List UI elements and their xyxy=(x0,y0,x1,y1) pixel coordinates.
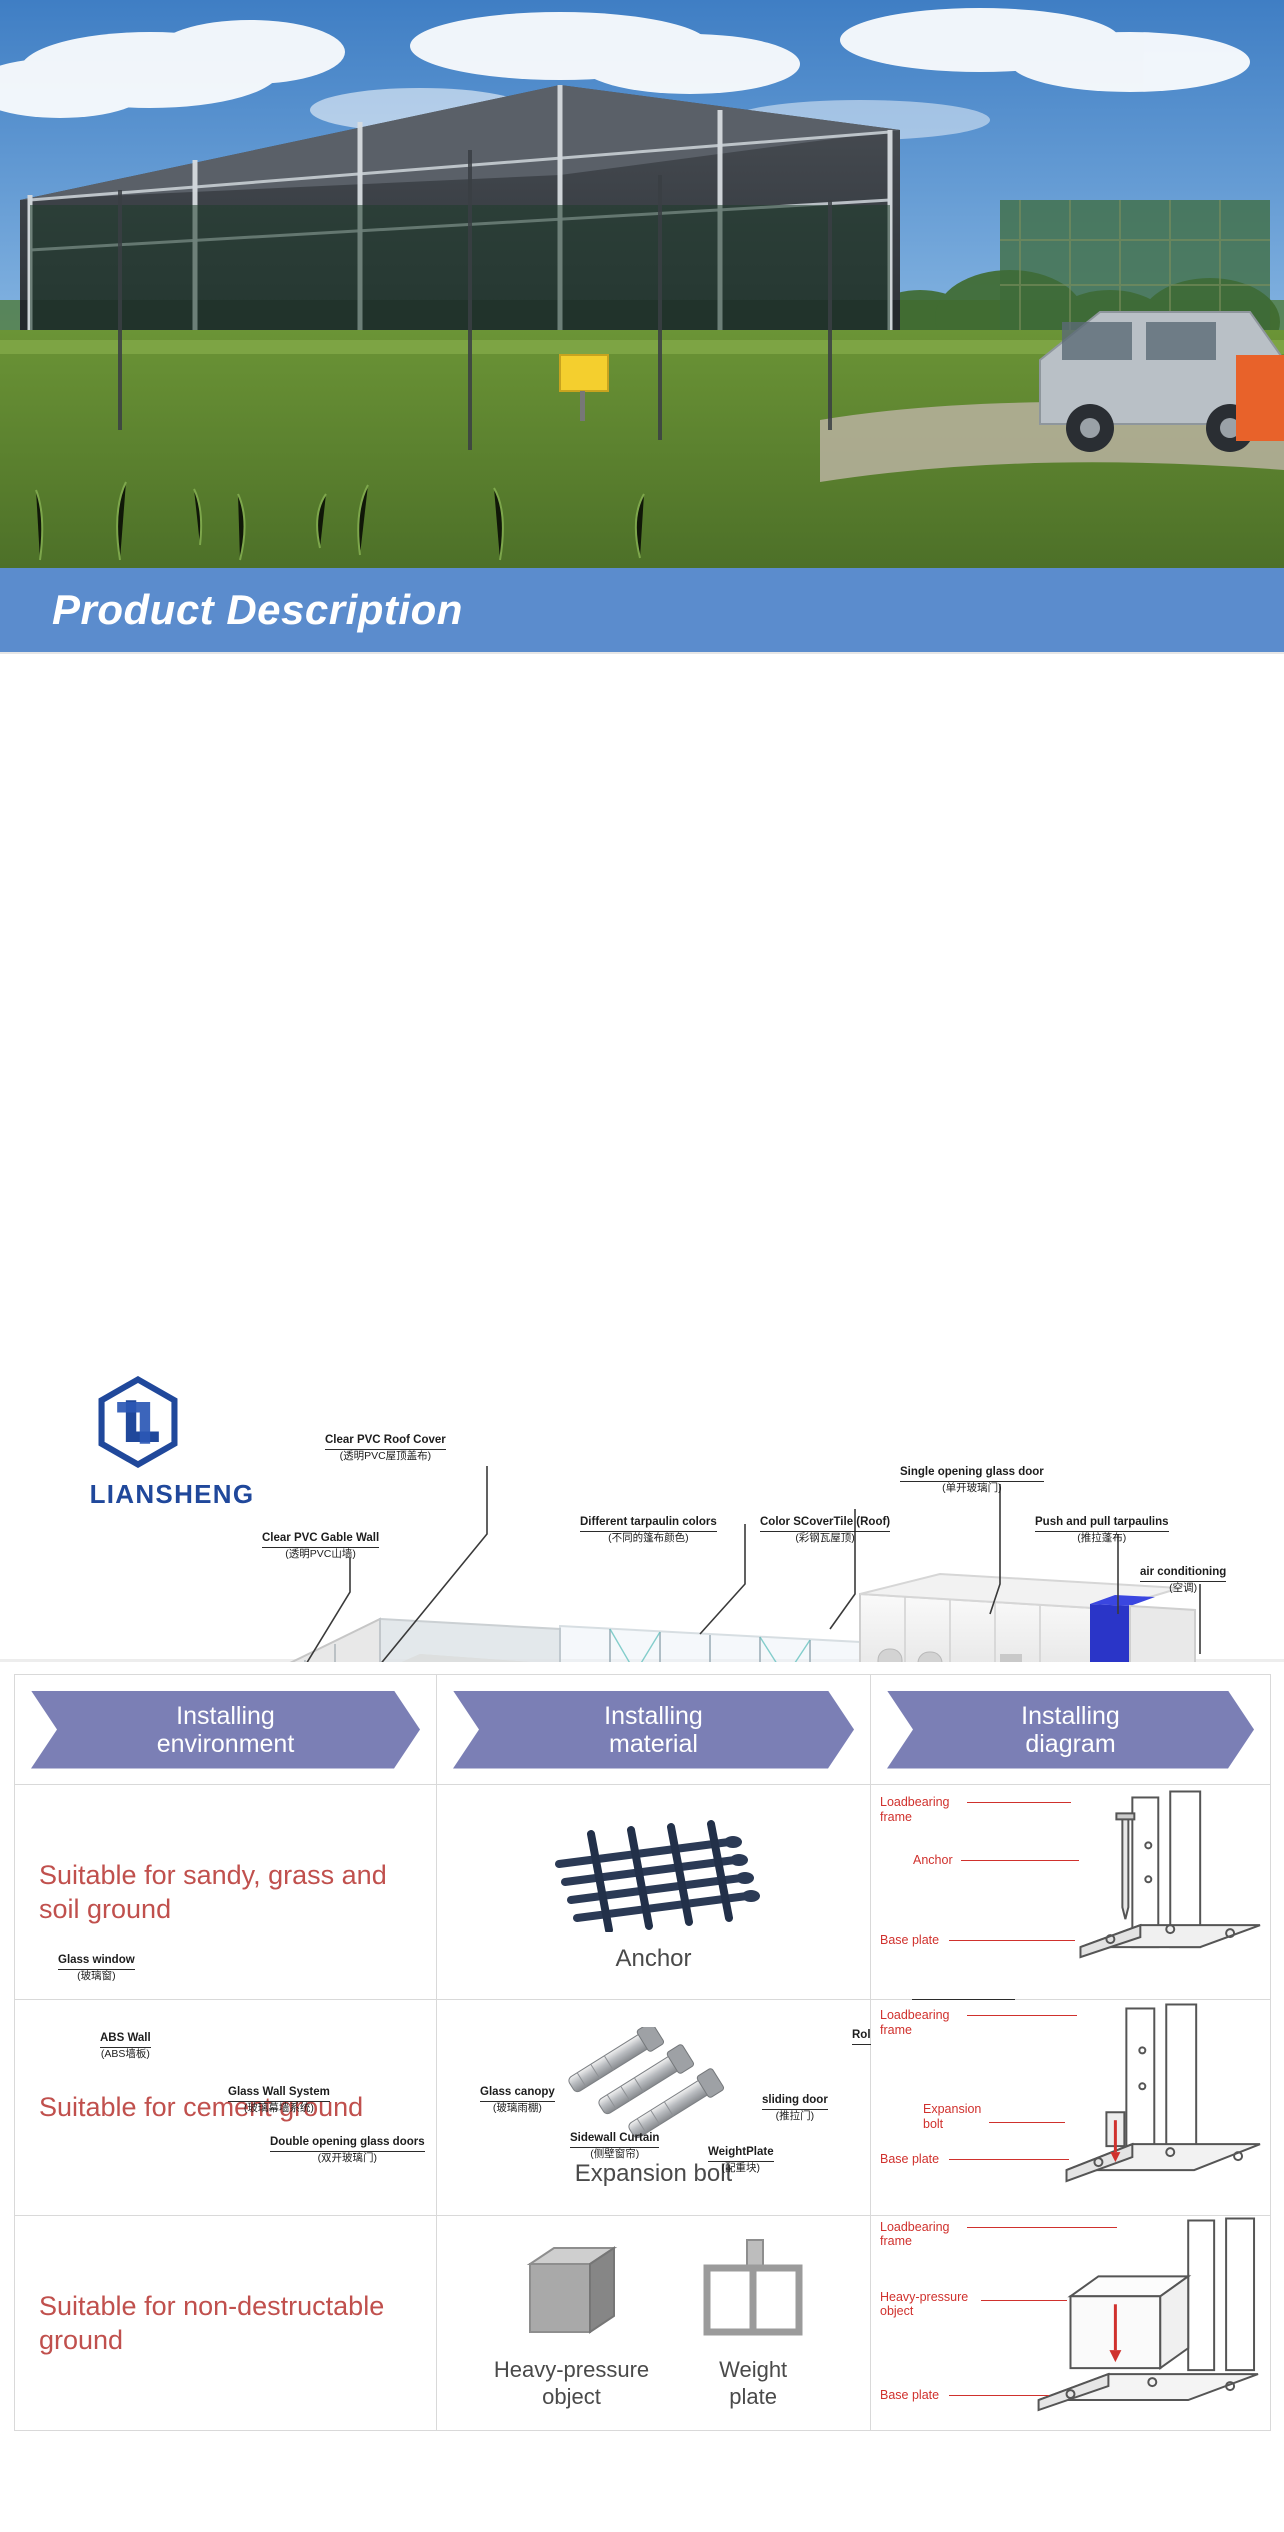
header-cell-diagram: Installing diagram xyxy=(871,1675,1271,1785)
installation-table-section: Installing environment Installing materi… xyxy=(0,1662,1284,2431)
header-line-2: material xyxy=(609,1730,698,1758)
hero-photo-illustration xyxy=(0,0,1284,568)
anchor-grid-icon xyxy=(539,1812,769,1932)
leader-line xyxy=(967,2015,1077,2016)
table-row: Suitable for non-destructable ground Hea… xyxy=(15,2215,1271,2430)
caption-line-2: object xyxy=(542,2384,601,2409)
cell-diagram-3: Loadbearing frame Heavy-pressure object … xyxy=(871,2215,1271,2430)
annotation-loadbearing-frame: Loadbearing frame xyxy=(880,2008,950,2037)
material-heavy-pressure-object: Heavy-pressure object xyxy=(494,2236,649,2410)
leader-line xyxy=(949,1940,1075,1941)
caption-line-2: plate xyxy=(729,2384,777,2409)
heavy-pressure-cube-icon xyxy=(512,2236,632,2346)
leader-line xyxy=(989,2122,1065,2123)
callout-air-conditioning: air conditioning (空调) xyxy=(1140,1566,1226,1594)
callout-abs-wall: ABS Wall (ABS墙板) xyxy=(100,2032,151,2060)
table-header-row: Installing environment Installing materi… xyxy=(15,1675,1271,1785)
table-row: Suitable for cement ground xyxy=(15,2000,1271,2215)
leader-line xyxy=(961,1860,1079,1861)
callout-sidewall-curtain: Sidewall Curtain (侧壁窗帘) xyxy=(570,2132,659,2160)
annotation-base-plate: Base plate xyxy=(880,1933,939,1948)
callout-sliding-door: sliding door (推拉门) xyxy=(762,2094,828,2122)
header-line-1: Installing xyxy=(604,1702,703,1730)
annotation-base-plate: Base plate xyxy=(880,2388,939,2403)
annotation-anchor: Anchor xyxy=(913,1853,953,1868)
header-banner-environment: Installing environment xyxy=(31,1691,420,1769)
annotation-loadbearing-frame: Loadbearing frame xyxy=(880,2220,950,2249)
installation-table: Installing environment Installing materi… xyxy=(14,1674,1271,2431)
hero-product-photo xyxy=(0,0,1284,568)
header-line-1: Installing xyxy=(176,1702,275,1730)
section-title-bar: Product Description xyxy=(0,568,1284,654)
header-line-2: diagram xyxy=(1025,1730,1115,1758)
cell-diagram-2: Loadbearing frame Expansion bolt Base pl… xyxy=(871,2000,1271,2215)
callout-push-and-pull-tarpaulins: Push and pull tarpaulins (推拉蓬布) xyxy=(1035,1516,1169,1544)
environment-text: Suitable for non-destructable ground xyxy=(39,2289,412,2358)
callout-clear-pvc-roof-cover: Clear PVC Roof Cover (透明PVC屋顶盖布) xyxy=(325,1434,446,1462)
header-line-2: environment xyxy=(157,1730,295,1758)
cell-material-1: Anchor xyxy=(437,1785,871,2000)
callout-glass-canopy: Glass canopy (玻璃雨棚) xyxy=(480,2086,555,2114)
cell-environment-2: Suitable for cement ground xyxy=(15,2000,437,2215)
callout-weightplate: WeightPlate (配重块) xyxy=(708,2146,774,2174)
caption-line-1: Heavy-pressure xyxy=(494,2357,649,2382)
product-diagram-section: LIANSHENG xyxy=(0,654,1284,1662)
callout-double-opening-glass-doors: Double opening glass doors (双开玻璃门) xyxy=(270,2136,425,2164)
leader-line xyxy=(981,2300,1067,2301)
callout-glass-wall-system: Glass Wall System (玻璃幕墙系统) xyxy=(228,2086,330,2114)
environment-text: Suitable for sandy, grass and soil groun… xyxy=(39,1858,412,1927)
header-cell-environment: Installing environment xyxy=(15,1675,437,1785)
header-cell-material: Installing material xyxy=(437,1675,871,1785)
expansion-bolt-icon xyxy=(539,2027,769,2147)
cell-material-3: Heavy-pressure object Weight xyxy=(437,2215,871,2430)
header-banner-material: Installing material xyxy=(453,1691,854,1769)
annotation-loadbearing-frame: Loadbearing frame xyxy=(880,1795,950,1824)
expansion-bolt-base-plate-diagram: Loadbearing frame Expansion bolt Base pl… xyxy=(871,2000,1270,2214)
callout-clear-pvc-gable-wall: Clear PVC Gable Wall (透明PVC山墙) xyxy=(262,1532,379,1560)
anchor-base-plate-diagram: Loadbearing frame Anchor Base plate xyxy=(871,1785,1270,1999)
callout-glass-window: Glass window (玻璃窗) xyxy=(58,1954,135,1982)
callout-different-tarpaulin-colors: Different tarpaulin colors (不同的篷布颜色) xyxy=(580,1516,717,1544)
weight-plate-icon xyxy=(693,2236,813,2346)
caption-line-1: Weight xyxy=(719,2357,787,2382)
table-row: Suitable for sandy, grass and soil groun… xyxy=(15,1785,1271,2000)
header-banner-diagram: Installing diagram xyxy=(887,1691,1254,1769)
page-title: Product Description xyxy=(52,586,463,634)
annotation-heavy-pressure-object: Heavy-pressure object xyxy=(880,2290,968,2319)
weight-plate-base-diagram: Loadbearing frame Heavy-pressure object … xyxy=(871,2216,1270,2430)
leader-line xyxy=(967,1802,1071,1803)
annotation-expansion-bolt: Expansion bolt xyxy=(923,2102,981,2131)
leader-line xyxy=(949,2395,1049,2396)
tent-3d-render xyxy=(0,654,1284,1662)
leader-line xyxy=(967,2227,1117,2228)
leader-line xyxy=(949,2159,1069,2160)
material-caption: Expansion bolt xyxy=(447,2160,860,2188)
callout-color-scovertile-roof: Color SCoverTile (Roof) (彩钢瓦屋顶) xyxy=(760,1516,890,1544)
material-weight-plate: Weight plate xyxy=(693,2236,813,2410)
cell-environment-3: Suitable for non-destructable ground xyxy=(15,2215,437,2430)
environment-text: Suitable for cement ground xyxy=(39,2090,412,2125)
annotation-base-plate: Base plate xyxy=(880,2152,939,2167)
product-description-page: Product Description LIANSHENG xyxy=(0,0,1284,2431)
header-line-1: Installing xyxy=(1021,1702,1120,1730)
cell-diagram-1: Loadbearing frame Anchor Base plate xyxy=(871,1785,1271,2000)
callout-single-opening-glass-door: Single opening glass door (单开玻璃门) xyxy=(900,1466,1044,1494)
material-caption: Anchor xyxy=(447,1945,860,1973)
